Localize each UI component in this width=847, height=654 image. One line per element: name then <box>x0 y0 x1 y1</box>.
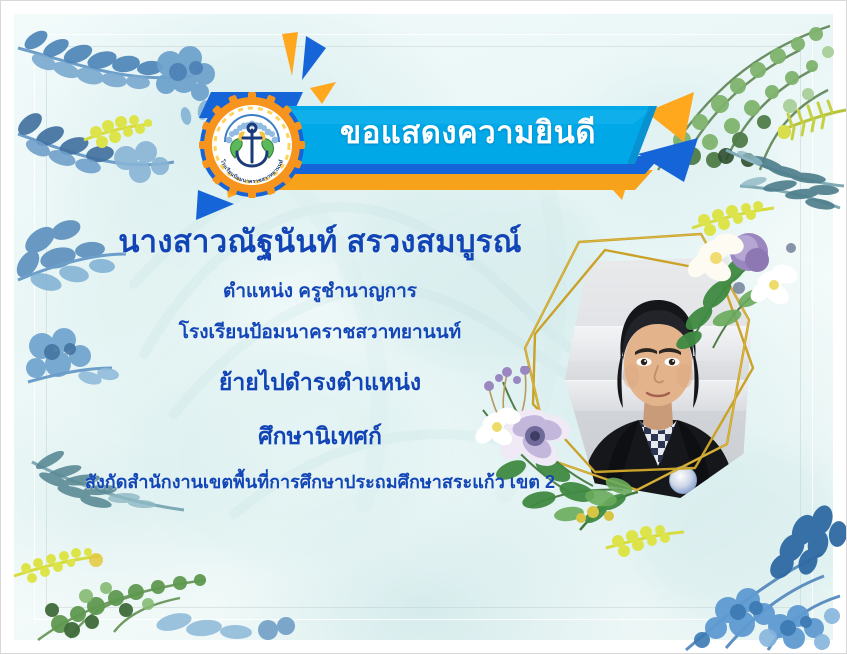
new-position: ศึกษานิเทศก์ <box>0 422 640 452</box>
honoree-name: นางสาวณัฐนันท์ สรวงสมบูรณ์ <box>0 222 640 262</box>
congratulations-banner: โรงเรียนป้อมนาคราชสวาทยานนท์ . . . . . ข… <box>183 84 661 200</box>
transfer-label: ย้ายไปดำรงตำแหน่ง <box>0 368 640 398</box>
current-school: โรงเรียนป้อมนาคราชสวาทยานนท์ <box>0 321 640 346</box>
school-logo: โรงเรียนป้อมนาคราชสวาทยานนท์ . . . . . <box>199 92 305 198</box>
congratulations-poster: โรงเรียนป้อมนาคราชสวาทยานนท์ . . . . . ข… <box>0 0 847 654</box>
honoree-text-block: นางสาวณัฐนันท์ สรวงสมบูรณ์ ตำแหน่ง ครูชำ… <box>0 222 640 495</box>
current-position: ตำแหน่ง ครูชำนาญการ <box>0 280 640 305</box>
office-affiliation: สังกัดสำนักงานเขตพื้นที่การศึกษาประถมศึก… <box>0 471 640 494</box>
school-emblem-icon: โรงเรียนป้อมนาคราชสวาทยานนท์ . . . . . <box>199 92 305 198</box>
lapel-badge <box>669 466 697 494</box>
banner-headline: ขอแสดงความยินดี <box>303 103 633 161</box>
emblem-subtext: . . . . . <box>247 150 257 155</box>
